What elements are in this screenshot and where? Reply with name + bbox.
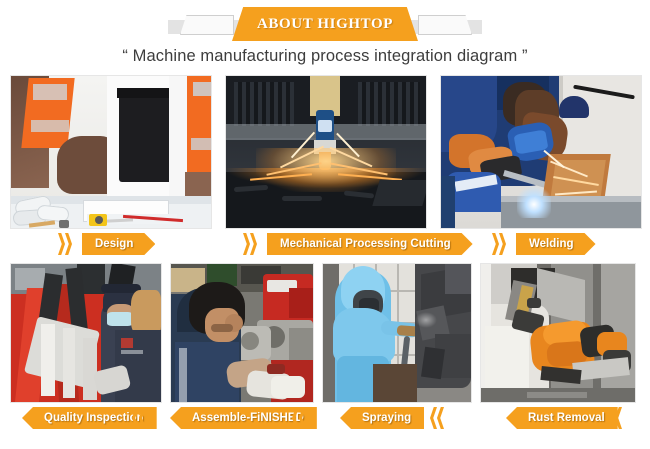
process-step-spraying: Spraying <box>322 263 472 433</box>
label-row-design: Design <box>10 229 212 259</box>
photo-spraying <box>322 263 472 403</box>
chevron-left-icon <box>132 407 147 429</box>
header-ribbon: ABOUT HIGHTOP <box>0 4 650 44</box>
step-label-welding[interactable]: Welding <box>516 233 596 255</box>
ribbon-wing-right <box>418 15 472 35</box>
step-label-rust-removal[interactable]: Rust Removal <box>506 407 618 429</box>
step-label-text: Spraying <box>362 412 411 424</box>
photo-welding <box>440 75 642 229</box>
label-row-cutting: Mechanical Processing Cutting <box>225 229 427 259</box>
chevron-left-icon <box>430 407 445 429</box>
chevron-right-icon <box>492 233 507 255</box>
page-subtitle: “ Machine manufacturing process integrat… <box>0 47 650 66</box>
photo-cutting <box>225 75 427 229</box>
process-step-design: Design <box>10 75 212 259</box>
process-step-welding: Welding <box>440 75 642 259</box>
about-hightop-page: ABOUT HIGHTOP “ Machine manufacturing pr… <box>0 4 650 449</box>
photo-quality-inspection <box>10 263 162 403</box>
chevron-left-icon <box>292 407 307 429</box>
step-label-text: Assemble-FiNISHED <box>192 412 304 424</box>
label-row-assemble: Assemble-FiNISHED <box>170 403 314 433</box>
step-label-text: Quality Inspection <box>44 412 144 424</box>
step-label-text: Design <box>95 238 133 250</box>
step-label-design[interactable]: Design <box>82 233 155 255</box>
process-row-top: Design <box>0 75 650 259</box>
step-label-text: Rust Removal <box>528 412 605 424</box>
label-row-spraying: Spraying <box>322 403 472 433</box>
chevron-left-icon <box>608 407 623 429</box>
label-row-welding: Welding <box>440 229 642 259</box>
ribbon-center: ABOUT HIGHTOP <box>232 7 418 41</box>
step-label-text: Mechanical Processing Cutting <box>280 238 451 250</box>
photo-rust-removal <box>480 263 636 403</box>
photo-design <box>10 75 212 229</box>
process-step-cutting: Mechanical Processing Cutting <box>225 75 427 259</box>
step-label-spraying[interactable]: Spraying <box>340 407 424 429</box>
label-row-rust-removal: Rust Removal <box>480 403 636 433</box>
process-row-bottom: Quality Inspection <box>0 263 650 433</box>
photo-assemble <box>170 263 314 403</box>
chevron-right-icon <box>243 233 258 255</box>
process-step-assemble: Assemble-FiNISHED <box>170 263 314 433</box>
page-title: ABOUT HIGHTOP <box>257 16 393 33</box>
label-row-quality-inspection: Quality Inspection <box>10 403 162 433</box>
chevron-right-icon <box>58 233 73 255</box>
ribbon-wing-left <box>180 15 234 35</box>
process-step-rust-removal: Rust Removal <box>480 263 636 433</box>
step-label-text: Welding <box>529 238 574 250</box>
process-step-quality-inspection: Quality Inspection <box>10 263 162 433</box>
